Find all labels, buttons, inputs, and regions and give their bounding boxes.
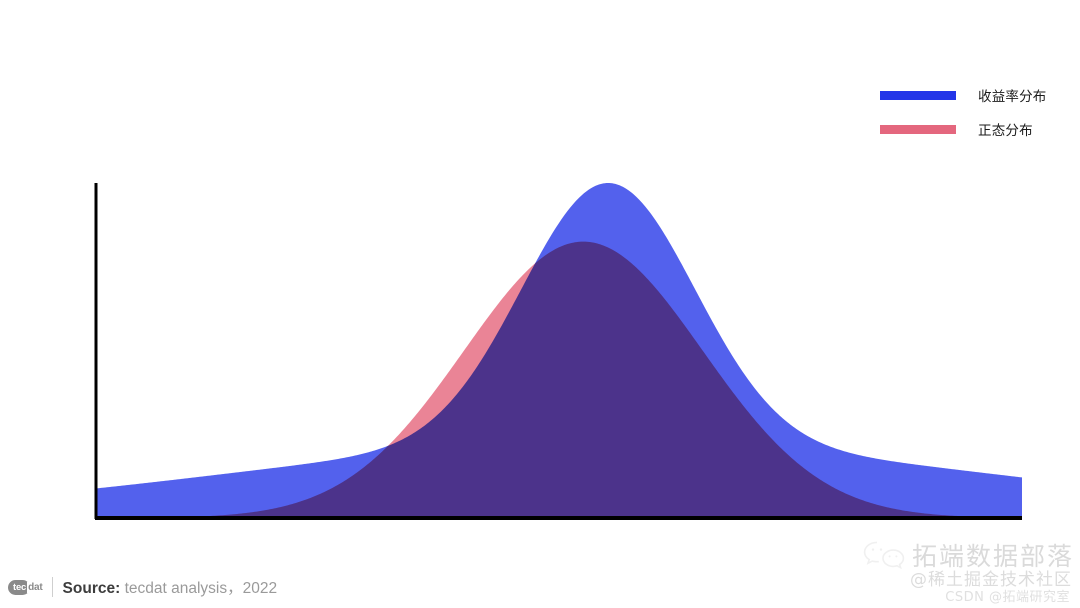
legend-swatch-normal [880,125,956,134]
source-prefix: Source: [63,580,121,597]
source-value: tecdat analysis，2022 [120,580,277,597]
source-footer: tec dat Source: tecdat analysis，2022 [8,574,277,600]
source-caption: Source: tecdat analysis，2022 [63,576,278,598]
chart-figure: 收益率分布 正态分布 [0,0,1080,608]
series-area-returns [95,183,1022,518]
tecdat-logo-word: dat [27,582,42,593]
tecdat-logo: tec dat [8,577,53,597]
chart-legend: 收益率分布 正态分布 [880,78,1075,146]
legend-swatch-returns [880,91,956,100]
legend-label-normal: 正态分布 [978,119,1033,139]
legend-label-returns: 收益率分布 [978,85,1047,105]
legend-item-normal[interactable]: 正态分布 [880,112,1075,146]
legend-item-returns[interactable]: 收益率分布 [880,78,1075,112]
